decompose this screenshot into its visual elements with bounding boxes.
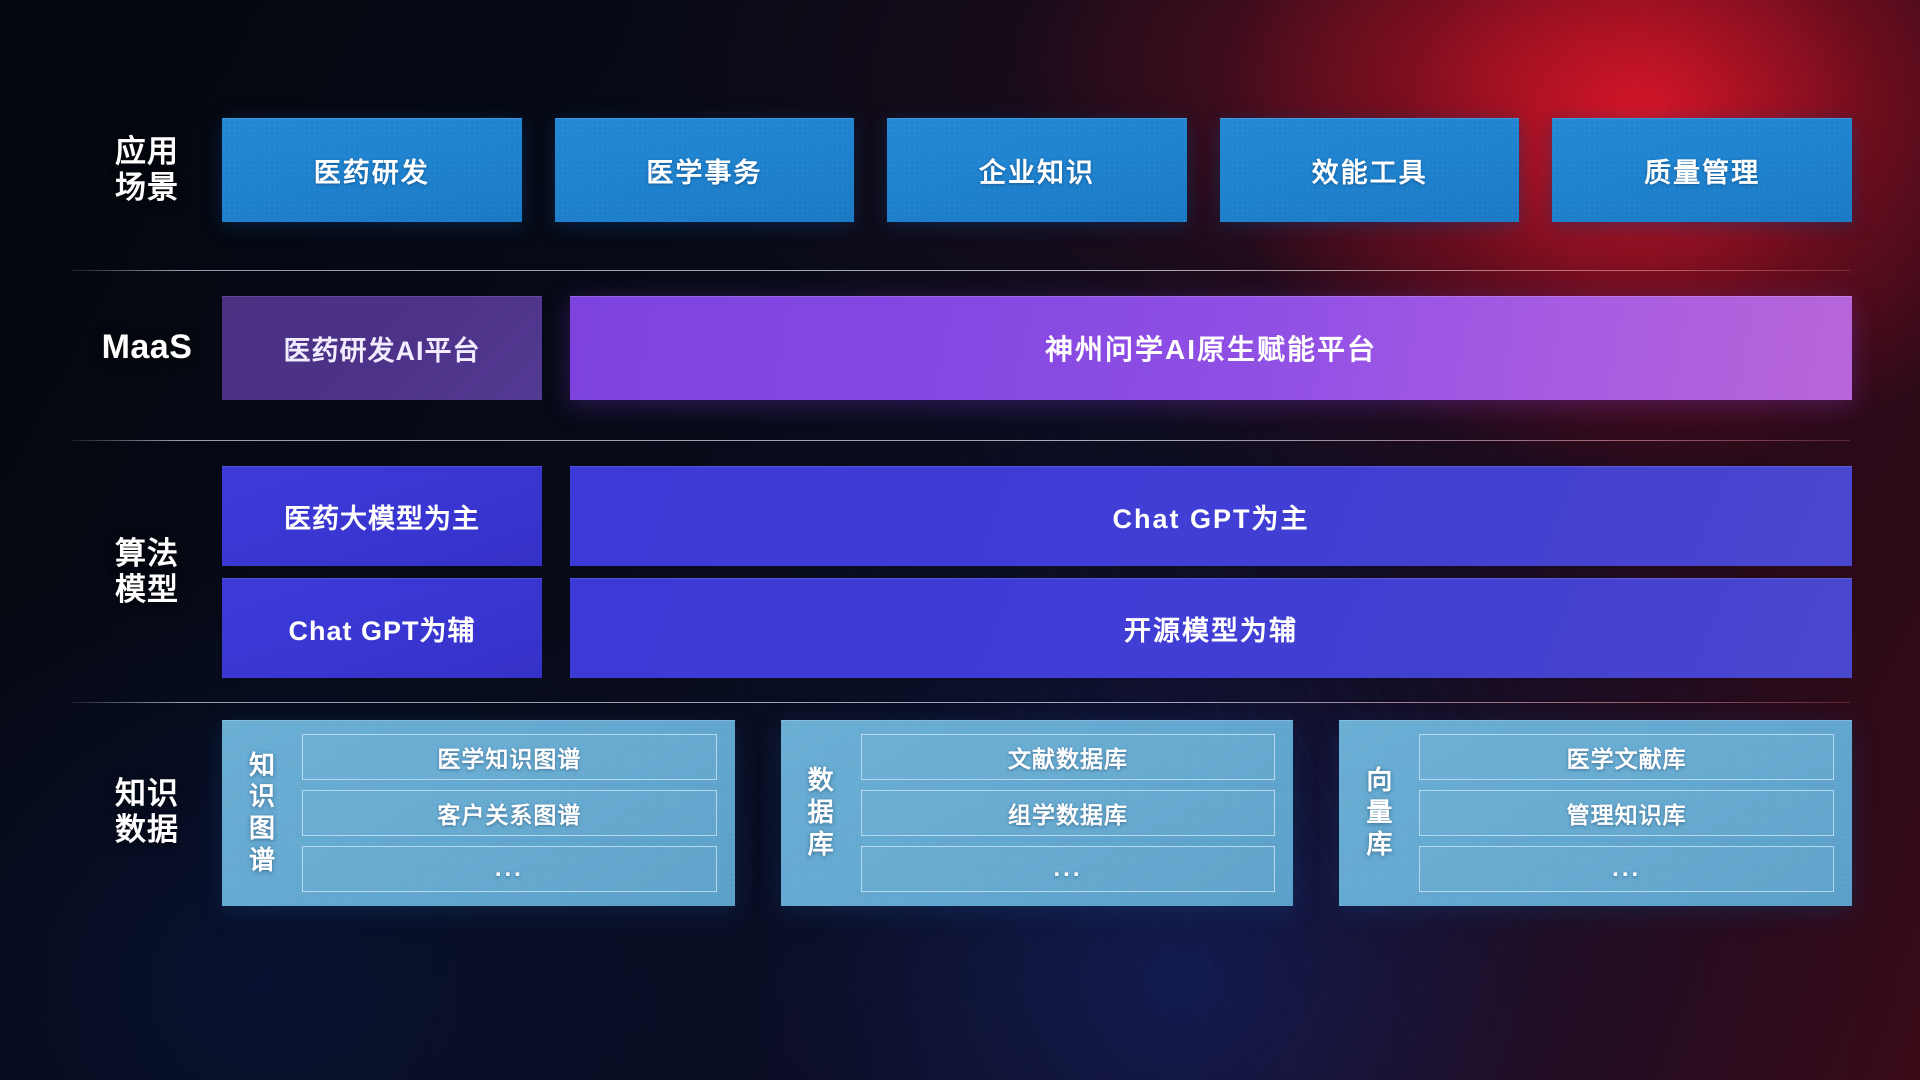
row-label-knowledge-data: 知识 数据 [72,776,222,848]
knowledge-item-more[interactable]: ... [302,846,717,892]
knowledge-item-management-knowledge-store[interactable]: 管理知识库 [1419,790,1834,836]
row-application-scenarios: 应用 场景 医药研发 医学事务 企业知识 效能工具 质量管理 [72,118,1852,222]
row-label-line-2: 场景 [72,170,222,206]
row-label-maas: MaaS [72,328,222,367]
knowledge-group-knowledge-graph: 知 识 图 谱 医学知识图谱 客户关系图谱 ... [222,720,735,906]
knowledge-group-list: 知 识 图 谱 医学知识图谱 客户关系图谱 ... 数 据 [222,720,1852,906]
divider-maas-algorithm [72,440,1850,441]
application-card-enterprise-knowledge[interactable]: 企业知识 [887,118,1187,222]
group-title-char: 图 [249,813,275,845]
group-title-char: 据 [808,797,834,829]
algorithm-box-pharma-llm-primary[interactable]: 医药大模型为主 [222,466,542,566]
divider-apps-maas [72,270,1850,271]
algorithm-box-chatgpt-secondary[interactable]: Chat GPT为辅 [222,578,542,678]
maas-box-drug-rd-ai-platform[interactable]: 医药研发AI平台 [222,296,542,400]
group-title-char: 数 [808,765,834,797]
knowledge-item-list: 医学知识图谱 客户关系图谱 ... [302,734,717,892]
knowledge-item-medical-knowledge-graph[interactable]: 医学知识图谱 [302,734,717,780]
application-card-label: 质量管理 [1644,151,1760,190]
row-algorithm-model: 算法 模型 医药大模型为主 Chat GPT为主 Chat GPT为辅 [72,466,1852,678]
slide-canvas: 应用 场景 医药研发 医学事务 企业知识 效能工具 质量管理 [0,0,1920,1080]
maas-right-label: 神州问学AI原生赋能平台 [1045,328,1377,368]
application-card-efficiency-tools[interactable]: 效能工具 [1220,118,1520,222]
row-label-application-scenarios: 应用 场景 [72,134,222,206]
algorithm-box-stack: 医药大模型为主 Chat GPT为主 Chat GPT为辅 开源模型为辅 [222,466,1852,678]
group-title-char: 库 [808,829,834,861]
algorithm-box-chatgpt-primary[interactable]: Chat GPT为主 [570,466,1852,566]
group-title-char: 库 [1366,829,1392,861]
algorithm-line-secondary: Chat GPT为辅 开源模型为辅 [222,578,1852,678]
row-label-line-1: 知识 [72,776,222,812]
knowledge-item-omics-database[interactable]: 组学数据库 [861,790,1276,836]
application-card-label: 企业知识 [979,151,1095,190]
row-knowledge-data: 知识 数据 知 识 图 谱 医学知识图谱 客户关系图谱 ... [72,720,1852,970]
row-label-line-2: 模型 [72,572,222,608]
row-label-algorithm-model: 算法 模型 [72,536,222,608]
knowledge-group-title-database: 数 据 库 [795,734,847,892]
divider-algorithm-knowledge [72,702,1850,703]
algorithm-box-label: 医药大模型为主 [284,497,480,536]
knowledge-group-title-knowledge-graph: 知 识 图 谱 [236,734,288,892]
knowledge-item-customer-relation-graph[interactable]: 客户关系图谱 [302,790,717,836]
knowledge-item-medical-literature-store[interactable]: 医学文献库 [1419,734,1834,780]
row-label-line-1: 应用 [72,134,222,170]
algorithm-box-opensource-secondary[interactable]: 开源模型为辅 [570,578,1852,678]
maas-box-shenzhou-wenxue-platform[interactable]: 神州问学AI原生赋能平台 [570,296,1852,400]
application-card-medical-affairs[interactable]: 医学事务 [555,118,855,222]
algorithm-box-label: 开源模型为辅 [1124,609,1298,648]
application-card-label: 医药研发 [314,151,430,190]
group-title-char: 识 [249,781,275,813]
algorithm-box-label: Chat GPT为主 [1112,497,1309,536]
application-card-list: 医药研发 医学事务 企业知识 效能工具 质量管理 [222,118,1852,222]
knowledge-item-list: 医学文献库 管理知识库 ... [1419,734,1834,892]
knowledge-item-literature-database[interactable]: 文献数据库 [861,734,1276,780]
row-maas: MaaS 医药研发AI平台 神州问学AI原生赋能平台 [72,296,1852,400]
knowledge-group-vector-store: 向 量 库 医学文献库 管理知识库 ... [1339,720,1852,906]
knowledge-group-title-vector-store: 向 量 库 [1353,734,1405,892]
application-card-label: 效能工具 [1312,151,1428,190]
algorithm-line-primary: 医药大模型为主 Chat GPT为主 [222,466,1852,566]
group-title-char: 谱 [249,845,275,877]
knowledge-group-database: 数 据 库 文献数据库 组学数据库 ... [781,720,1294,906]
row-label-line-1: 算法 [72,536,222,572]
group-title-char: 向 [1366,765,1392,797]
group-title-char: 量 [1366,797,1392,829]
knowledge-item-more[interactable]: ... [1419,846,1834,892]
row-label-line-2: 数据 [72,812,222,848]
application-card-drug-rd[interactable]: 医药研发 [222,118,522,222]
algorithm-box-label: Chat GPT为辅 [288,609,475,648]
application-card-label: 医学事务 [646,151,762,190]
knowledge-item-list: 文献数据库 组学数据库 ... [861,734,1276,892]
maas-left-label: 医药研发AI平台 [284,329,481,368]
application-card-quality-management[interactable]: 质量管理 [1552,118,1852,222]
knowledge-item-more[interactable]: ... [861,846,1276,892]
group-title-char: 知 [249,750,275,782]
architecture-diagram: 应用 场景 医药研发 医学事务 企业知识 效能工具 质量管理 [0,0,1920,1080]
